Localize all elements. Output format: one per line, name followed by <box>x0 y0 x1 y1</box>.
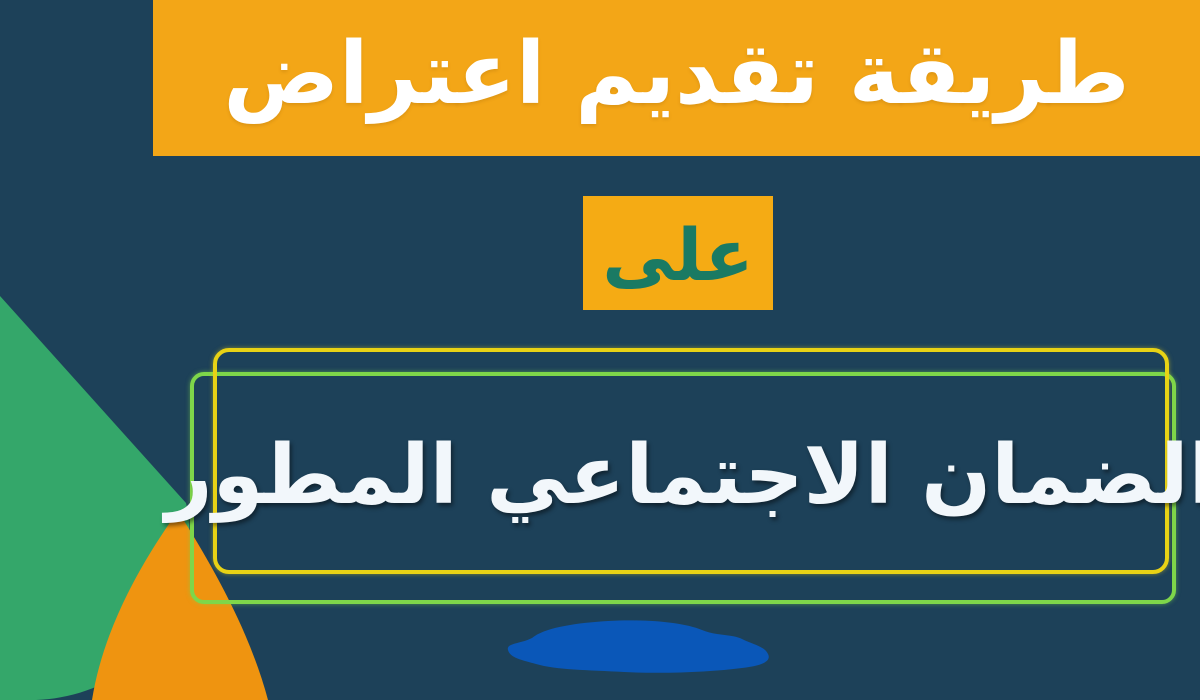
poster-canvas: طريقة تقديم اعتراض على الضمان الاجتماعي … <box>0 0 1200 700</box>
redaction-blob-shape <box>508 620 769 672</box>
main-title-container: الضمان الاجتماعي المطور <box>213 348 1169 604</box>
preposition-text: على <box>602 219 753 291</box>
main-title-text: الضمان الاجتماعي المطور <box>165 433 1200 519</box>
headline-text: طريقة تقديم اعتراض <box>223 31 1129 117</box>
headline-banner: طريقة تقديم اعتراض <box>153 0 1200 156</box>
blue-redaction-mark <box>496 616 782 676</box>
preposition-box: على <box>583 196 773 310</box>
green-leaf-shape <box>0 296 189 700</box>
